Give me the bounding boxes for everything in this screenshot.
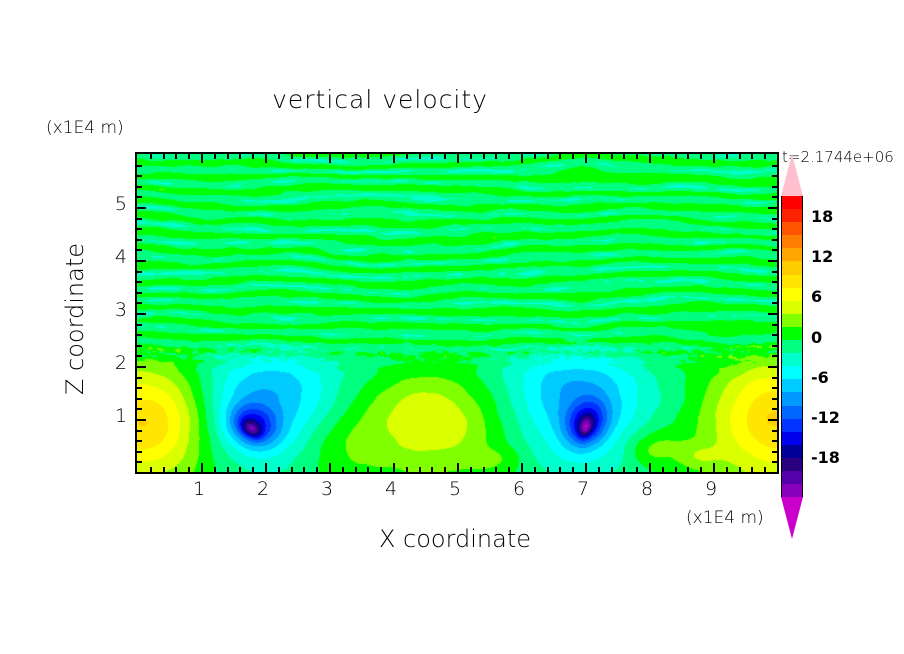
tick-mark xyxy=(252,467,254,472)
tick-mark xyxy=(393,463,395,472)
tick-mark xyxy=(675,154,677,159)
colorbar-segment xyxy=(781,353,803,366)
tick-mark xyxy=(137,313,146,315)
tick-mark xyxy=(687,467,689,472)
tick-mark xyxy=(419,467,421,472)
tick-mark xyxy=(380,154,382,159)
tick-mark xyxy=(764,154,766,159)
x-tick-label: 6 xyxy=(504,478,534,500)
tick-mark xyxy=(214,154,216,159)
tick-mark xyxy=(431,154,433,159)
colorbar-tick-label: 12 xyxy=(811,247,833,266)
colorbar-segment xyxy=(781,379,803,392)
tick-mark xyxy=(367,467,369,472)
colorbar-segment xyxy=(781,235,803,248)
tick-mark xyxy=(316,154,318,159)
tick-mark xyxy=(611,467,613,472)
tick-mark xyxy=(772,355,777,357)
tick-mark xyxy=(137,355,142,357)
tick-mark xyxy=(649,154,651,163)
tick-mark xyxy=(768,366,777,368)
tick-mark xyxy=(739,467,741,472)
x-tick-label: 5 xyxy=(440,478,470,500)
tick-mark xyxy=(534,467,536,472)
tick-mark xyxy=(419,154,421,159)
tick-mark xyxy=(137,366,146,368)
colorbar-segment xyxy=(781,458,803,471)
tick-mark xyxy=(265,154,267,163)
tick-mark xyxy=(291,154,293,159)
colorbar-segment xyxy=(781,419,803,432)
tick-mark xyxy=(508,154,510,159)
tick-mark xyxy=(137,461,142,463)
colorbar-segment xyxy=(781,196,803,209)
colorbar-tick-label: -6 xyxy=(811,368,829,387)
tick-mark xyxy=(662,154,664,159)
tick-mark xyxy=(675,467,677,472)
tick-mark xyxy=(751,154,753,159)
tick-mark xyxy=(278,154,280,159)
tick-mark xyxy=(483,467,485,472)
tick-mark xyxy=(772,165,777,167)
tick-mark xyxy=(772,302,777,304)
tick-mark xyxy=(470,154,472,159)
tick-mark xyxy=(772,461,777,463)
y-tick-label: 2 xyxy=(101,352,127,374)
tick-mark xyxy=(772,292,777,294)
tick-mark xyxy=(367,154,369,159)
tick-mark xyxy=(772,271,777,273)
tick-mark xyxy=(188,467,190,472)
tick-mark xyxy=(457,463,459,472)
tick-mark xyxy=(137,249,142,251)
tick-mark xyxy=(772,440,777,442)
tick-mark xyxy=(252,154,254,159)
tick-mark xyxy=(636,467,638,472)
tick-mark xyxy=(380,467,382,472)
y-tick-label: 3 xyxy=(101,299,127,321)
tick-mark xyxy=(137,377,142,379)
tick-mark xyxy=(495,467,497,472)
tick-mark xyxy=(772,175,777,177)
tick-mark xyxy=(137,207,146,209)
tick-mark xyxy=(239,467,241,472)
tick-mark xyxy=(137,451,142,453)
tick-mark xyxy=(772,196,777,198)
tick-mark xyxy=(137,324,142,326)
y-axis-title: Z coordinate xyxy=(61,169,89,469)
tick-mark xyxy=(772,408,777,410)
tick-mark xyxy=(303,154,305,159)
tick-mark xyxy=(137,239,142,241)
y-tick-label: 1 xyxy=(101,405,127,427)
tick-mark xyxy=(444,154,446,159)
tick-mark xyxy=(768,419,777,421)
tick-mark xyxy=(726,467,728,472)
tick-mark xyxy=(175,154,177,159)
tick-mark xyxy=(342,467,344,472)
tick-mark xyxy=(777,463,779,472)
tick-mark xyxy=(303,467,305,472)
tick-mark xyxy=(572,467,574,472)
tick-mark xyxy=(772,186,777,188)
tick-mark xyxy=(772,249,777,251)
colorbar-segment xyxy=(781,406,803,419)
tick-mark xyxy=(175,467,177,472)
tick-mark xyxy=(406,154,408,159)
tick-mark xyxy=(150,467,152,472)
tick-mark xyxy=(772,239,777,241)
tick-mark xyxy=(137,186,142,188)
tick-mark xyxy=(137,334,142,336)
tick-mark xyxy=(772,398,777,400)
contour-field xyxy=(137,154,777,472)
colorbar-segment xyxy=(781,445,803,458)
tick-mark xyxy=(636,154,638,159)
tick-mark xyxy=(239,154,241,159)
tick-mark xyxy=(521,154,523,163)
y-axis-unit-label: (x1E4 m) xyxy=(46,118,124,138)
tick-mark xyxy=(623,154,625,159)
tick-mark xyxy=(227,154,229,159)
tick-mark xyxy=(214,467,216,472)
x-tick-label: 8 xyxy=(632,478,662,500)
tick-mark xyxy=(406,467,408,472)
x-tick-label: 4 xyxy=(376,478,406,500)
tick-mark xyxy=(201,463,203,472)
tick-mark xyxy=(150,154,152,159)
tick-mark xyxy=(329,463,331,472)
colorbar-segment xyxy=(781,327,803,340)
tick-mark xyxy=(329,154,331,163)
tick-mark xyxy=(772,228,777,230)
colorbar-segment xyxy=(781,392,803,405)
colorbar-tick-label: -12 xyxy=(811,408,840,427)
colorbar-segment xyxy=(781,248,803,261)
tick-mark xyxy=(137,398,142,400)
colorbar-segment xyxy=(781,432,803,445)
tick-mark xyxy=(547,154,549,159)
tick-mark xyxy=(137,440,142,442)
tick-mark xyxy=(137,302,142,304)
x-tick-label: 3 xyxy=(312,478,342,500)
colorbar-segment xyxy=(781,484,803,497)
tick-mark xyxy=(768,207,777,209)
tick-mark xyxy=(649,463,651,472)
tick-mark xyxy=(201,154,203,163)
tick-mark xyxy=(137,175,142,177)
tick-mark xyxy=(585,463,587,472)
tick-mark xyxy=(772,451,777,453)
figure-canvas: vertical velocity (x1E4 m) (x1E4 m) t=2.… xyxy=(0,0,904,654)
x-tick-label: 2 xyxy=(248,478,278,500)
colorbar-segments xyxy=(781,196,803,497)
tick-mark xyxy=(521,463,523,472)
colorbar-segment xyxy=(781,209,803,222)
tick-mark xyxy=(291,467,293,472)
tick-mark xyxy=(700,154,702,159)
tick-mark xyxy=(137,271,142,273)
tick-mark xyxy=(137,292,142,294)
x-tick-label: 9 xyxy=(696,478,726,500)
colorbar-tick-label: -18 xyxy=(811,448,840,467)
tick-mark xyxy=(137,228,142,230)
colorbar-segment xyxy=(781,261,803,274)
colorbar-tick-label: 18 xyxy=(811,207,833,226)
colorbar-segment xyxy=(781,366,803,379)
colorbar-under-arrow xyxy=(781,497,803,539)
tick-mark xyxy=(495,154,497,159)
colorbar-segment xyxy=(781,301,803,314)
tick-mark xyxy=(265,463,267,472)
tick-mark xyxy=(772,324,777,326)
colorbar-segment xyxy=(781,340,803,353)
tick-mark xyxy=(662,467,664,472)
tick-mark xyxy=(431,467,433,472)
tick-mark xyxy=(772,334,777,336)
tick-mark xyxy=(772,387,777,389)
tick-mark xyxy=(137,408,142,410)
tick-mark xyxy=(772,377,777,379)
tick-mark xyxy=(444,467,446,472)
tick-mark xyxy=(227,467,229,472)
tick-mark xyxy=(598,154,600,159)
tick-mark xyxy=(534,154,536,159)
tick-mark xyxy=(772,430,777,432)
colorbar-segment xyxy=(781,471,803,484)
tick-mark xyxy=(572,154,574,159)
x-axis-title: X coordinate xyxy=(135,525,775,553)
tick-mark xyxy=(777,154,779,163)
tick-mark xyxy=(137,196,142,198)
colorbar-tick-label: 0 xyxy=(811,328,822,347)
tick-mark xyxy=(768,260,777,262)
tick-mark xyxy=(163,154,165,159)
tick-mark xyxy=(483,154,485,159)
colorbar-segment xyxy=(781,314,803,327)
tick-mark xyxy=(316,467,318,472)
tick-mark xyxy=(598,467,600,472)
x-tick-label: 1 xyxy=(184,478,214,500)
tick-mark xyxy=(700,467,702,472)
y-tick-label: 5 xyxy=(101,193,127,215)
tick-mark xyxy=(547,467,549,472)
tick-mark xyxy=(611,154,613,159)
tick-mark xyxy=(342,154,344,159)
tick-mark xyxy=(585,154,587,163)
y-tick-label: 4 xyxy=(101,246,127,268)
tick-mark xyxy=(559,154,561,159)
tick-mark xyxy=(751,467,753,472)
tick-mark xyxy=(137,345,142,347)
tick-mark xyxy=(163,467,165,472)
tick-mark xyxy=(137,165,142,167)
tick-mark xyxy=(687,154,689,159)
tick-mark xyxy=(764,467,766,472)
tick-mark xyxy=(739,154,741,159)
tick-mark xyxy=(137,419,146,421)
colorbar-tick-label: 6 xyxy=(811,287,822,306)
tick-mark xyxy=(772,218,777,220)
colorbar-over-arrow xyxy=(781,154,803,196)
x-tick-label: 7 xyxy=(568,478,598,500)
tick-mark xyxy=(137,260,146,262)
colorbar-segment xyxy=(781,222,803,235)
tick-mark xyxy=(355,154,357,159)
tick-mark xyxy=(713,463,715,472)
tick-mark xyxy=(726,154,728,159)
tick-mark xyxy=(772,345,777,347)
tick-mark xyxy=(768,313,777,315)
tick-mark xyxy=(137,218,142,220)
colorbar-segment xyxy=(781,288,803,301)
tick-mark xyxy=(559,467,561,472)
contour-plot-area[interactable] xyxy=(135,152,779,474)
tick-mark xyxy=(470,467,472,472)
tick-mark xyxy=(188,154,190,159)
colorbar-segment xyxy=(781,275,803,288)
page-title: vertical velocity xyxy=(0,85,760,114)
tick-mark xyxy=(137,430,142,432)
tick-mark xyxy=(355,467,357,472)
tick-mark xyxy=(393,154,395,163)
tick-mark xyxy=(713,154,715,163)
tick-mark xyxy=(457,154,459,163)
tick-mark xyxy=(772,281,777,283)
tick-mark xyxy=(623,467,625,472)
tick-mark xyxy=(137,281,142,283)
colorbar[interactable]: 181260-6-12-18 xyxy=(781,196,803,497)
tick-mark xyxy=(508,467,510,472)
tick-mark xyxy=(278,467,280,472)
tick-mark xyxy=(137,387,142,389)
